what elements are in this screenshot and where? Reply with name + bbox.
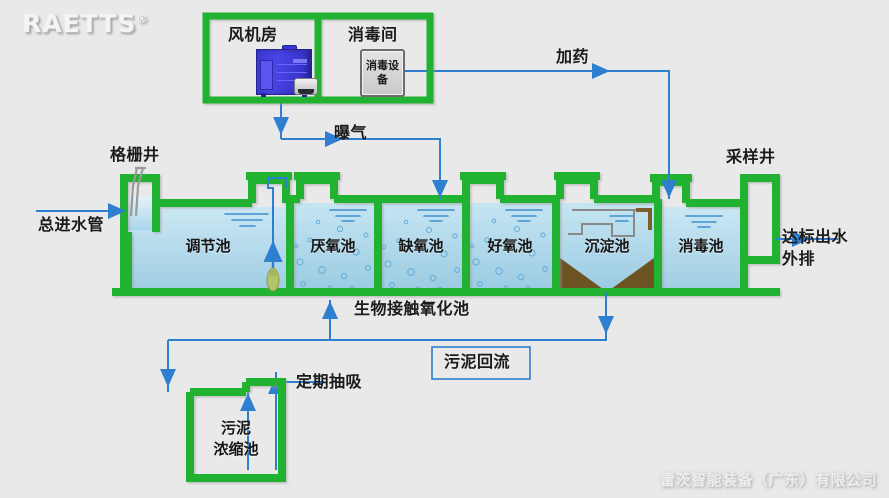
tank-label-anaerobic: 厌氧池	[303, 235, 363, 256]
blower-motor	[294, 78, 318, 95]
flow-label-aeration: 曝气	[334, 124, 367, 142]
well-label-sampling-well: 采样井	[726, 148, 776, 166]
outlet-label-line1: 达标出水	[782, 228, 848, 246]
disinfection-equipment-label: 消毒设备	[362, 59, 403, 87]
blower-nameplate	[293, 59, 307, 63]
tank-label-regulating: 调节池	[178, 235, 238, 256]
submersible-pump	[267, 268, 279, 291]
tank-label-sedimentation: 沉淀池	[577, 235, 637, 256]
room-label-fan-room: 风机房	[228, 26, 278, 44]
room-label-disinfection-room: 消毒间	[348, 26, 398, 44]
blower-machine-icon	[256, 45, 318, 97]
outlet-label-line2: 外排	[782, 250, 815, 268]
sludge-tank-label-line2: 浓缩池	[196, 438, 276, 459]
tank-label-aerobic: 好氧池	[480, 235, 540, 256]
group-label-bio-contact-oxidation: 生物接触氧化池	[354, 300, 470, 318]
inlet-label: 总进水管	[38, 216, 104, 234]
flow-label-dosing: 加药	[556, 48, 589, 66]
company-watermark: 雷茨智能装备（广东）有限公司	[660, 469, 877, 490]
tank-label-disinfection: 消毒池	[671, 235, 731, 256]
sludge-tank-label-line1: 污泥	[206, 417, 266, 438]
well-label-grid-well: 格栅井	[110, 146, 160, 164]
flow-label-sludge-return: 污泥回流	[444, 353, 510, 371]
flow-label-periodic-suction: 定期抽吸	[296, 373, 362, 391]
blower-control-panel	[260, 60, 273, 90]
process-diagram-canvas: RAETTS®	[0, 0, 889, 498]
tank-label-anoxic: 缺氧池	[391, 235, 451, 256]
disinfection-equipment-box: 消毒设备	[360, 49, 405, 97]
